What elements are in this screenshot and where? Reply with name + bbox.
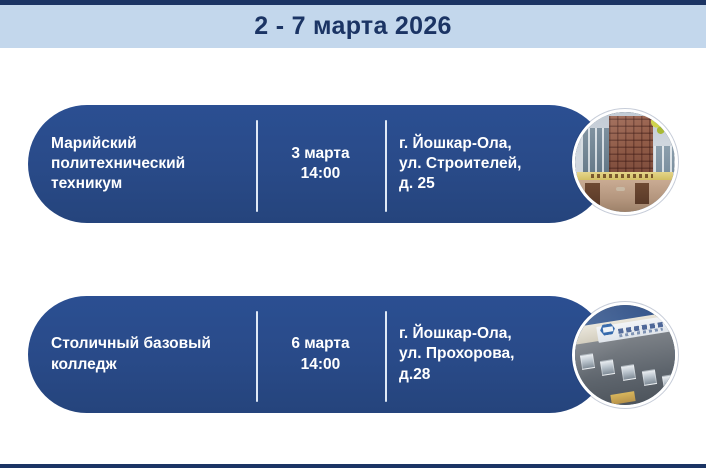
institution-name: Марийский политехнический техникум <box>51 134 248 194</box>
photo-wall-lamp <box>616 187 625 191</box>
event-datetime: 6 марта 14:00 <box>291 334 349 374</box>
venue-photo-image <box>575 305 675 405</box>
address-city: г. Йошкар-Ола, <box>399 325 512 342</box>
event-address: г. Йошкар-Ола, ул. Строителей, д. 25 <box>399 134 521 194</box>
event-card-content: Столичный базовый колледж 6 марта 14:00 … <box>28 296 608 413</box>
photo-window <box>580 353 595 370</box>
photo-signboard-text <box>591 174 653 178</box>
address-building: д. 25 <box>399 175 435 192</box>
event-date-cell: 3 марта 14:00 <box>256 105 385 223</box>
photo-foliage <box>649 114 675 140</box>
venue-photo-svk-college <box>572 302 678 408</box>
address-street: ул. Строителей, <box>399 155 521 172</box>
address-building: д.28 <box>399 366 430 383</box>
institution-name-cell: Столичный базовый колледж <box>28 296 256 413</box>
event-row[interactable]: Марийский политехнический техникум 3 мар… <box>0 105 706 223</box>
photo-entrance-door <box>585 183 600 205</box>
event-address-cell: г. Йошкар-Ола, ул. Прохорова, д.28 <box>385 296 590 413</box>
address-city: г. Йошкар-Ола, <box>399 135 512 152</box>
event-datetime: 3 марта 14:00 <box>291 144 349 184</box>
photo-brick-facade <box>609 116 653 176</box>
photo-window <box>642 369 657 386</box>
address-street: ул. Прохорова, <box>399 345 514 362</box>
svk-logo-text <box>602 326 613 332</box>
event-row[interactable]: Столичный базовый колледж 6 марта 14:00 … <box>0 296 706 413</box>
photo-glass-right <box>654 146 674 172</box>
page-title: 2 - 7 марта 2026 <box>254 14 452 39</box>
header-band: 2 - 7 марта 2026 <box>0 5 706 48</box>
event-time: 14:00 <box>301 165 341 182</box>
venue-photo-polytechnic <box>572 109 678 215</box>
institution-name: Столичный базовый колледж <box>51 334 248 374</box>
bottom-rule <box>0 464 706 468</box>
venue-photo-image <box>575 112 675 212</box>
photo-window <box>662 374 675 391</box>
event-date-cell: 6 марта 14:00 <box>256 296 385 413</box>
photo-window <box>621 364 636 381</box>
event-day: 6 марта <box>291 335 349 352</box>
event-day: 3 марта <box>291 145 349 162</box>
event-address: г. Йошкар-Ола, ул. Прохорова, д.28 <box>399 324 514 384</box>
photo-glass-left <box>581 128 610 172</box>
institution-name-cell: Марийский политехнический техникум <box>28 105 256 223</box>
event-time: 14:00 <box>301 356 341 373</box>
event-card-content: Марийский политехнический техникум 3 мар… <box>28 105 608 223</box>
photo-window <box>600 359 615 376</box>
photo-entrance-door <box>635 183 649 204</box>
event-address-cell: г. Йошкар-Ола, ул. Строителей, д. 25 <box>385 105 590 223</box>
